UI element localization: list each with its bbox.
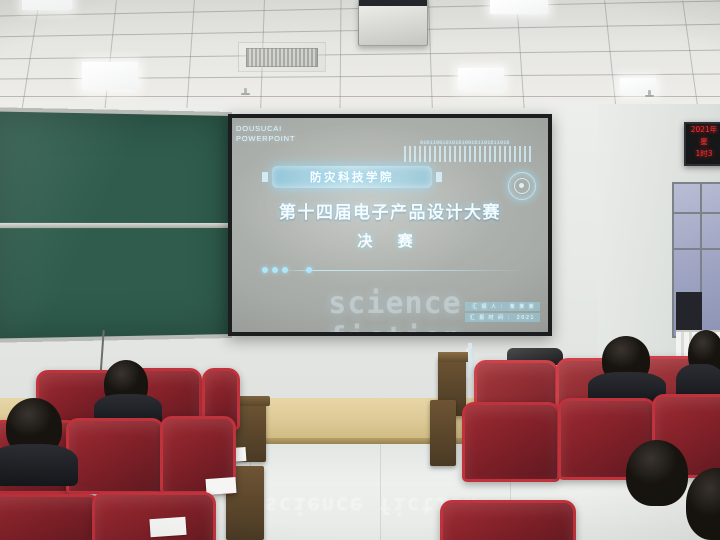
sprinkler-head	[648, 90, 651, 97]
slide-title: 第十四届电子产品设计大赛	[232, 198, 548, 223]
led-clock-line2: 星	[686, 136, 720, 148]
auditorium-seat[interactable]	[462, 402, 560, 482]
auditorium-seat[interactable]	[0, 494, 100, 540]
light-panel	[22, 0, 72, 10]
slide-credit-line1: 汇 报 人 ： 某 某 某	[465, 302, 540, 311]
corridor-window	[672, 182, 720, 338]
auditorium-seat[interactable]	[440, 500, 576, 540]
tick-decoration	[404, 146, 534, 162]
light-panel	[490, 0, 548, 14]
ac-unit	[238, 42, 326, 72]
auditorium-seat[interactable]	[66, 418, 164, 494]
chalkboard	[0, 107, 232, 343]
slide-credit-block: 汇 报 人 ： 某 某 某 汇 报 时 间 ： 2021	[465, 300, 540, 322]
institution-badge: 防灾科技学院	[272, 166, 432, 188]
led-clock-display: 2021年 星 1时3	[684, 122, 720, 166]
sprinkler-head	[244, 88, 247, 95]
projection-screen-frame: DOUSUCAI POWERPOINT 01011001010101001011…	[228, 114, 552, 336]
slide-brand-watermark: DOUSUCAI POWERPOINT	[236, 124, 295, 144]
paper-handout	[205, 477, 236, 495]
hud-divider	[262, 264, 524, 276]
projector-housing-top	[359, 0, 427, 6]
window-dark-panel	[676, 292, 702, 334]
audience-head	[626, 440, 688, 506]
lecture-hall-scene: DOUSUCAI POWERPOINT 01011001010101001011…	[0, 0, 720, 540]
led-clock-line3: 1时3	[686, 148, 720, 160]
slide-brand-line2: POWERPOINT	[236, 134, 295, 144]
ceiling-projector	[358, 0, 428, 46]
chalkboard-sheen	[0, 111, 228, 338]
desk-side-panel	[438, 352, 468, 362]
tech-emblem-icon	[508, 172, 536, 200]
slide-credit-line2: 汇 报 时 间 ： 2021	[465, 313, 540, 322]
institution-badge-label: 防灾科技学院	[310, 169, 394, 185]
ceiling	[0, 0, 720, 112]
slide-brand-line1: DOUSUCAI	[236, 124, 295, 134]
light-panel	[458, 68, 504, 90]
slide-subtitle: 决 赛	[232, 230, 548, 251]
audience-shoulders	[0, 444, 78, 486]
led-clock-line1: 2021年	[686, 124, 720, 136]
light-panel	[82, 62, 138, 90]
desk	[430, 400, 456, 466]
paper-handout	[149, 517, 186, 537]
projection-screen: DOUSUCAI POWERPOINT 01011001010101001011…	[232, 118, 548, 332]
